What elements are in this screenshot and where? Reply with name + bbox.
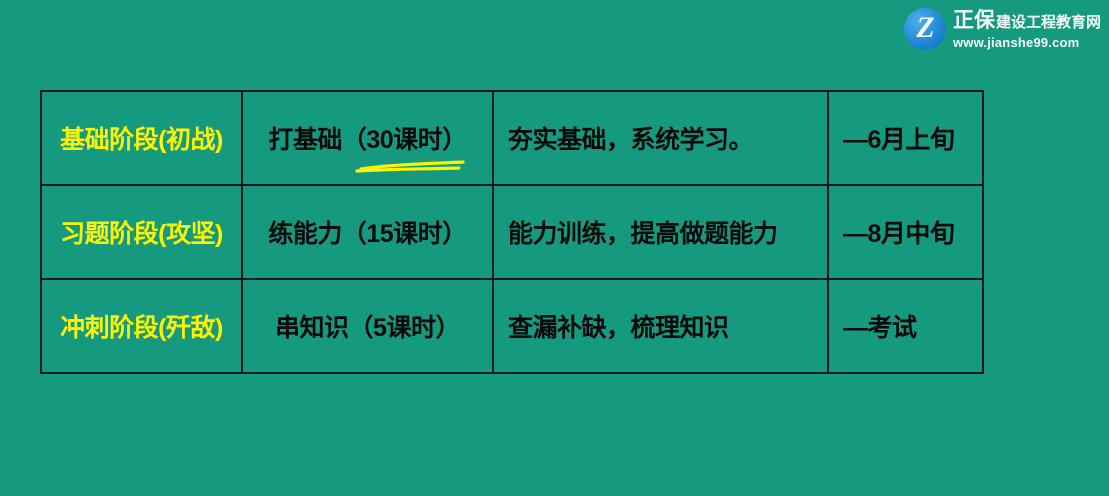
cell-time: —6月上旬	[828, 91, 983, 185]
cell-task: 打基础（30课时）	[242, 91, 493, 185]
table-row: 基础阶段(初战) 打基础（30课时） 夯实基础，系统学习。 —6月上旬	[41, 91, 983, 185]
cell-stage: 习题阶段(攻坚)	[41, 185, 242, 279]
site-watermark-logo: Z 正保 建设工程教育网 www.jianshe99.com	[904, 8, 1101, 50]
yellow-underline-annotation	[355, 156, 473, 176]
cell-stage: 冲刺阶段(歼敌)	[41, 279, 242, 373]
cell-task-label: 打基础（30课时）	[268, 126, 466, 154]
cell-goal: 夯实基础，系统学习。	[493, 91, 828, 185]
logo-brand-text: 正保	[953, 10, 995, 31]
logo-text-block: 正保 建设工程教育网 www.jianshe99.com	[953, 10, 1101, 49]
cell-goal: 查漏补缺，梳理知识	[493, 279, 828, 373]
zhengbao-z-icon: Z	[904, 8, 946, 50]
study-plan-table: 基础阶段(初战) 打基础（30课时） 夯实基础，系统学习。 —6月上旬 习题阶段…	[40, 90, 984, 374]
slide-canvas: Z 正保 建设工程教育网 www.jianshe99.com 基础阶段(初战) …	[0, 0, 1109, 496]
cell-task: 练能力（15课时）	[242, 185, 493, 279]
cell-time: —考试	[828, 279, 983, 373]
cell-goal: 能力训练，提高做题能力	[493, 185, 828, 279]
cell-task: 串知识（5课时）	[242, 279, 493, 373]
logo-z-letter: Z	[904, 7, 946, 49]
cell-time: —8月中旬	[828, 185, 983, 279]
cell-stage: 基础阶段(初战)	[41, 91, 242, 185]
table-row: 习题阶段(攻坚) 练能力（15课时） 能力训练，提高做题能力 —8月中旬	[41, 185, 983, 279]
logo-url-text: www.jianshe99.com	[953, 36, 1101, 49]
logo-subtitle-text: 建设工程教育网	[996, 15, 1101, 30]
logo-title-line: 正保 建设工程教育网	[953, 10, 1101, 31]
table-row: 冲刺阶段(歼敌) 串知识（5课时） 查漏补缺，梳理知识 —考试	[41, 279, 983, 373]
